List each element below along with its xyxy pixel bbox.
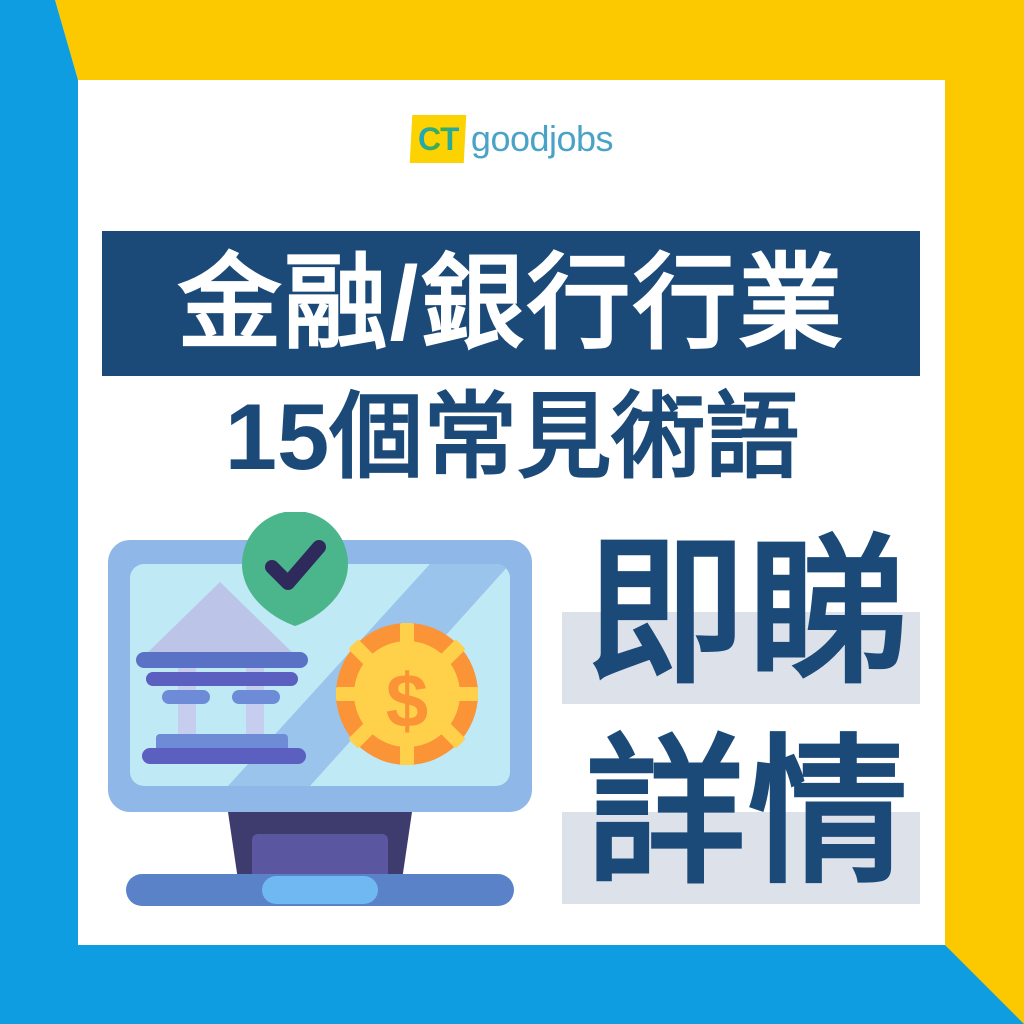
headline-banner: 金融/銀行行業 [102,231,920,376]
subtitle-text: 15個常見術語 [0,386,1024,488]
ct-logo-mark: CT [410,115,467,163]
cta-line-1: 即睇 [554,520,914,720]
cta-line-2-label: 詳情 [554,720,914,905]
bank-bar-second [146,672,298,686]
bank-bar-top [136,652,308,668]
headline-banner-label: 金融/銀行行業 [178,252,845,356]
cta-line-1-label: 即睇 [554,520,914,705]
ct-logo-mark-label: CT [418,123,459,155]
bank-cap-left [162,690,210,704]
bank-bar-bottom [142,748,306,764]
cta-block: 即睇 詳情 [554,520,914,920]
coin-dollar-symbol: $ [386,659,428,744]
cta-line-2: 詳情 [554,720,914,920]
dollar-coin-icon: $ [336,623,478,765]
monitor-base-highlight [262,876,378,904]
brand-logo-wordmark: goodjobs [471,121,613,157]
online-banking-illustration: $ [100,512,540,920]
poster-canvas: CT goodjobs 金融/銀行行業 15個常見術語 即睇 詳情 [0,0,1024,1024]
monitor-stand-inset [252,834,388,880]
bank-cap-right [232,690,280,704]
brand-logo: CT goodjobs [0,112,1024,166]
